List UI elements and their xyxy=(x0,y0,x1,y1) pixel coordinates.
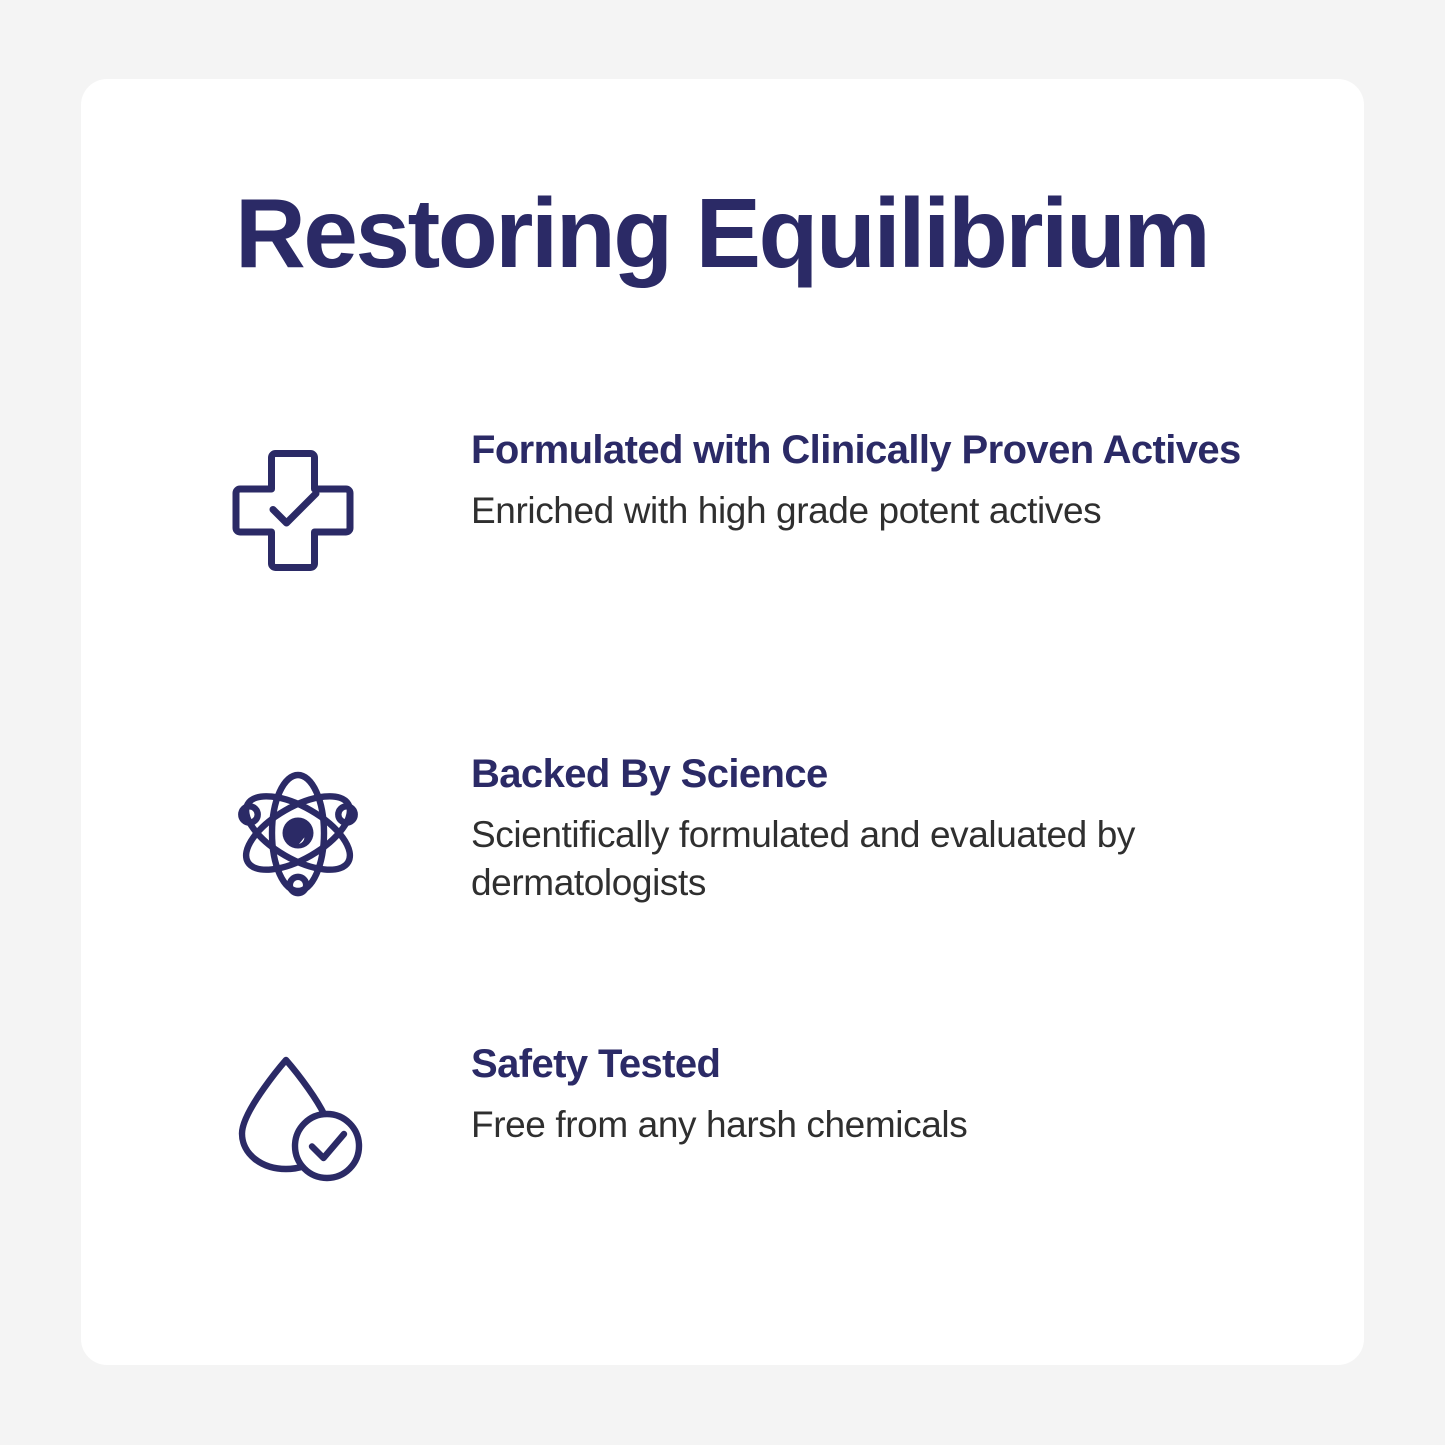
feature-text-block: Backed By Science Scientifically formula… xyxy=(391,748,1241,907)
feature-item: Backed By Science Scientifically formula… xyxy=(231,748,1241,1038)
feature-heading: Safety Tested xyxy=(471,1038,1241,1091)
content-card: Restoring Equilibrium Formulated with Cl… xyxy=(81,79,1364,1365)
poster-canvas: Restoring Equilibrium Formulated with Cl… xyxy=(0,0,1445,1445)
feature-description: Enriched with high grade potent actives xyxy=(471,487,1241,535)
medical-cross-check-icon xyxy=(231,424,391,574)
feature-text-block: Safety Tested Free from any harsh chemic… xyxy=(391,1038,1241,1149)
feature-text-block: Formulated with Clinically Proven Active… xyxy=(391,424,1241,535)
feature-item: Formulated with Clinically Proven Active… xyxy=(231,424,1241,748)
feature-description: Scientifically formulated and evaluated … xyxy=(471,811,1231,907)
feature-heading: Formulated with Clinically Proven Active… xyxy=(471,424,1241,477)
water-drop-check-icon xyxy=(231,1038,391,1184)
feature-list: Formulated with Clinically Proven Active… xyxy=(231,424,1241,1238)
feature-item: Safety Tested Free from any harsh chemic… xyxy=(231,1038,1241,1238)
page-title: Restoring Equilibrium xyxy=(235,181,1245,287)
atom-icon xyxy=(231,748,391,900)
feature-heading: Backed By Science xyxy=(471,748,1241,801)
feature-description: Free from any harsh chemicals xyxy=(471,1101,1241,1149)
